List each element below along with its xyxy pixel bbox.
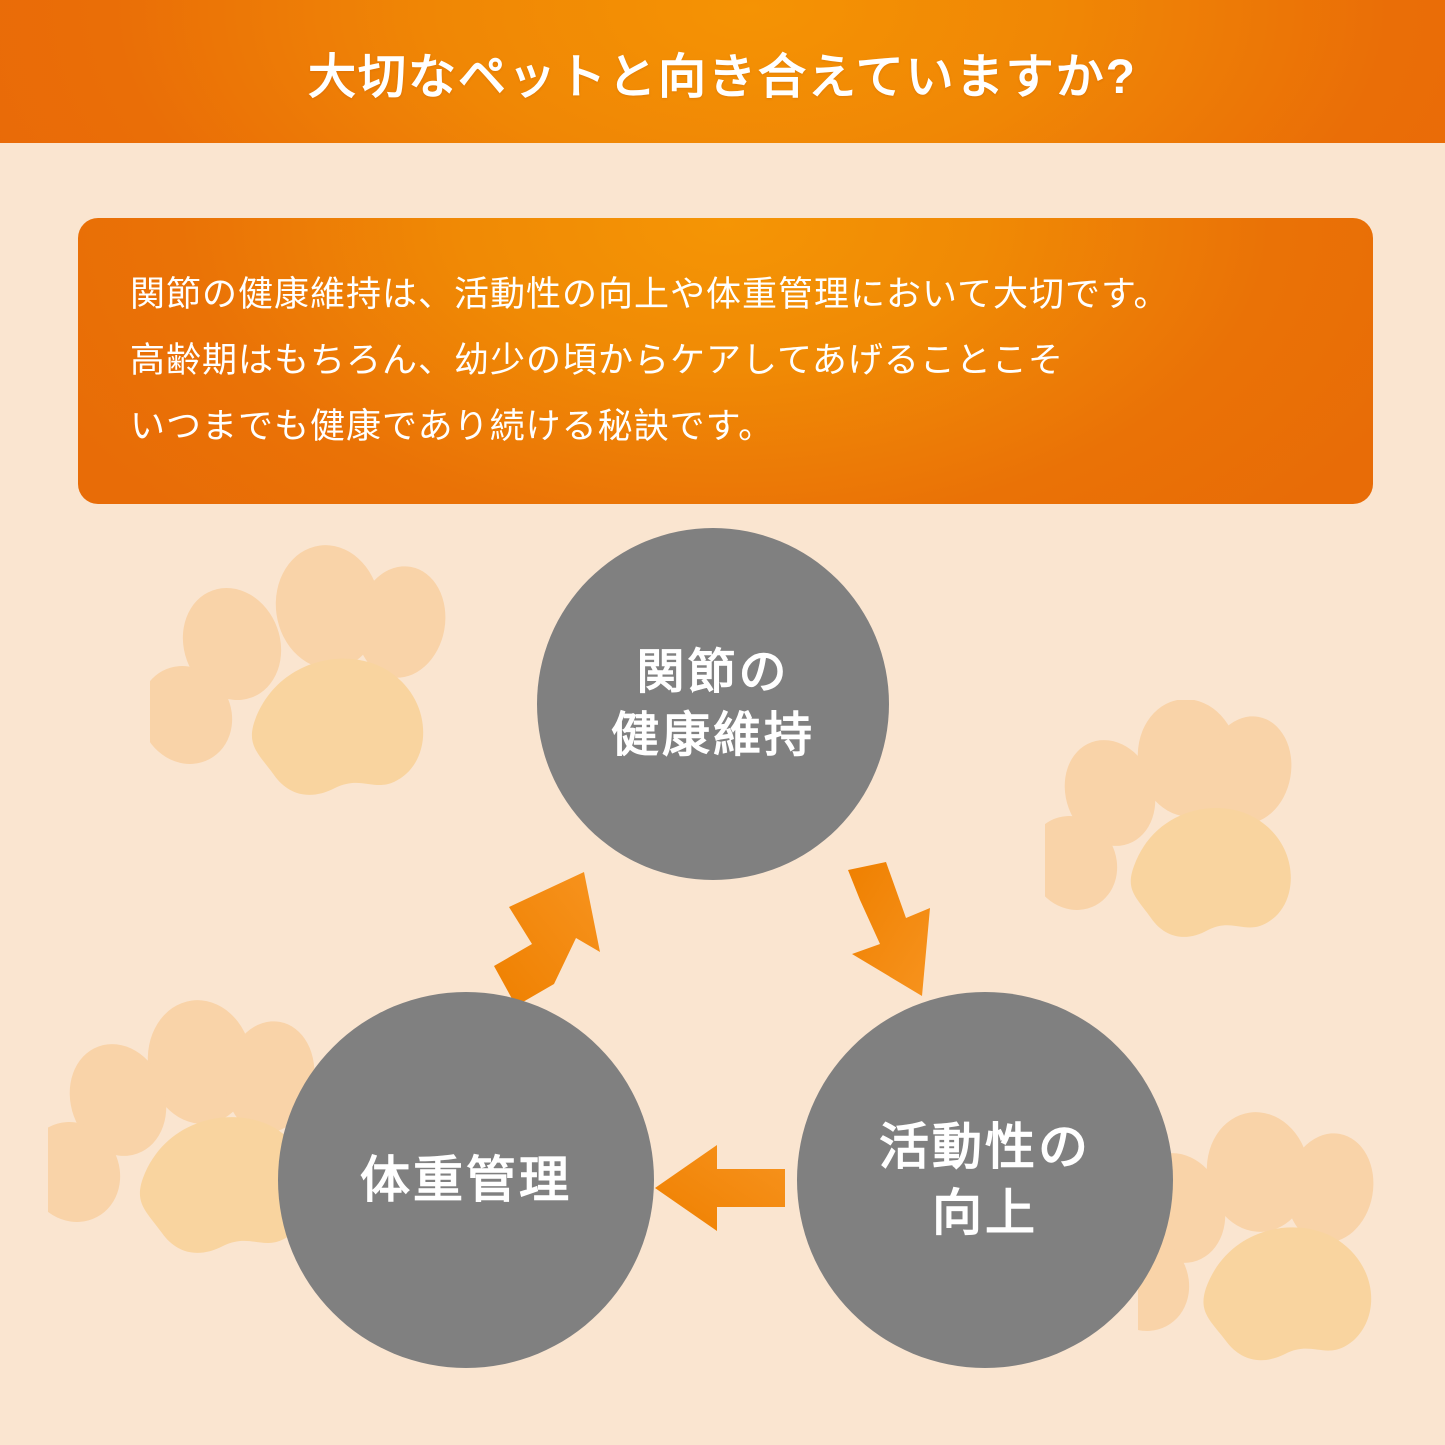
- arrow-weight-to-joint-icon: [492, 862, 632, 1012]
- node-joint-health-label-line2: 健康維持: [611, 704, 815, 767]
- node-weight-management[interactable]: 体重管理: [278, 992, 654, 1368]
- infographic-page: 大切なペットと向き合えていますか? 関節の健康維持は、活動性の向上や体重管理にお…: [0, 0, 1445, 1445]
- message-panel: 関節の健康維持は、活動性の向上や体重管理において大切です。 高齢期はもちろん、幼…: [78, 218, 1373, 504]
- message-line-2: 高齢期はもちろん、幼少の頃からケアしてあげることこそ: [130, 328, 1321, 394]
- message-line-3: いつまでも健康であり続ける秘訣です。: [130, 394, 1321, 460]
- arrow-joint-to-activity-icon: [830, 862, 970, 1012]
- header-banner: 大切なペットと向き合えていますか?: [0, 0, 1445, 143]
- paw-print-icon-lower-right: [1138, 1100, 1438, 1390]
- paw-print-icon-upper-left: [150, 545, 480, 845]
- node-activity-improvement-label-line1: 活動性の: [879, 1114, 1091, 1180]
- node-activity-improvement-label-line2: 向上: [932, 1180, 1038, 1246]
- arrow-activity-to-weight-icon: [655, 1140, 785, 1235]
- page-title: 大切なペットと向き合えていますか?: [308, 37, 1137, 107]
- node-weight-management-label: 体重管理: [360, 1147, 572, 1213]
- node-joint-health-label-line1: 関節の: [636, 641, 789, 704]
- node-activity-improvement[interactable]: 活動性の 向上: [797, 992, 1173, 1368]
- message-line-1: 関節の健康維持は、活動性の向上や体重管理において大切です。: [130, 262, 1321, 328]
- node-joint-health[interactable]: 関節の 健康維持: [537, 528, 889, 880]
- paw-print-icon-upper-right: [1045, 700, 1345, 980]
